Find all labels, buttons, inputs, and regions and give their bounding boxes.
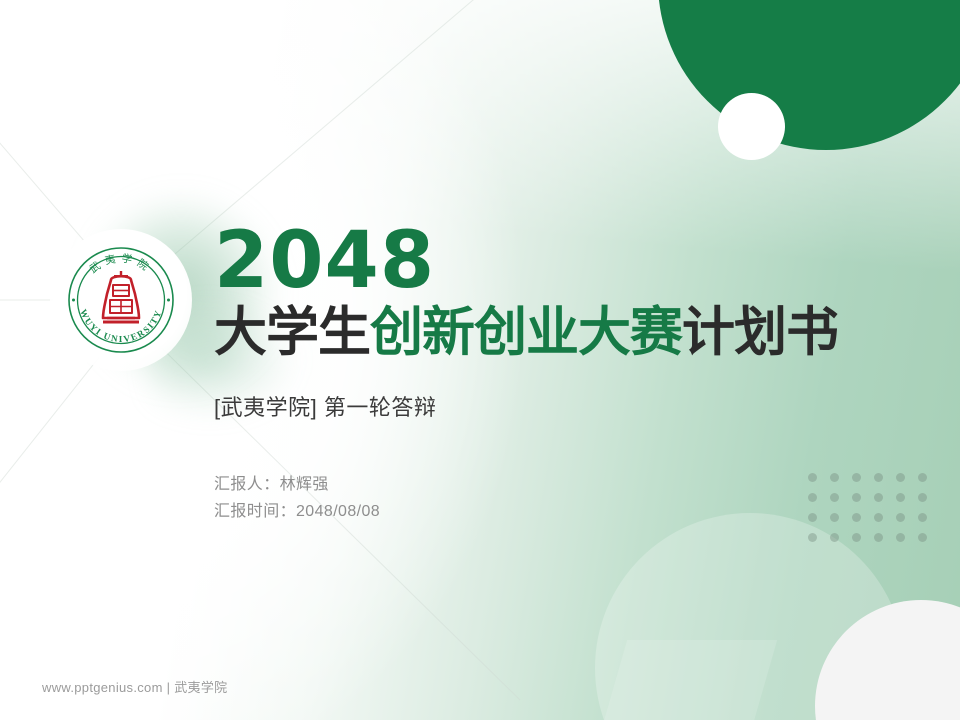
page-title: 大学生创新创业大赛计划书 bbox=[214, 304, 914, 362]
title-part-3: 计划书 bbox=[682, 302, 838, 363]
presentation-slide: 武夷学院 WUYI UNIVERSITY 2048 大学 bbox=[0, 0, 960, 720]
presenter-line: 汇报人：林辉强 bbox=[214, 472, 914, 498]
subtitle: [武夷学院] 第一轮答辩 bbox=[214, 390, 914, 422]
university-logo: 武夷学院 WUYI UNIVERSITY bbox=[50, 229, 192, 371]
report-date-line: 汇报时间：2048/08/08 bbox=[214, 499, 914, 525]
footer-site: www.pptgenius.com bbox=[42, 680, 163, 695]
year-heading: 2048 bbox=[214, 222, 914, 300]
title-part-1: 大学生 bbox=[214, 302, 370, 363]
meta-block: 汇报人：林辉强 汇报时间：2048/08/08 bbox=[214, 472, 914, 525]
footer-org: 武夷学院 bbox=[174, 680, 227, 695]
footer: www.pptgenius.com | 武夷学院 bbox=[42, 677, 227, 696]
title-block: 2048 大学生创新创业大赛计划书 [武夷学院] 第一轮答辩 汇报人：林辉强 汇… bbox=[214, 222, 914, 525]
footer-separator: | bbox=[167, 680, 171, 695]
decorative-white-dot-circle bbox=[718, 93, 785, 160]
title-part-2: 创新创业大赛 bbox=[370, 302, 682, 363]
wuyi-university-emblem-icon: 武夷学院 WUYI UNIVERSITY bbox=[65, 244, 177, 356]
